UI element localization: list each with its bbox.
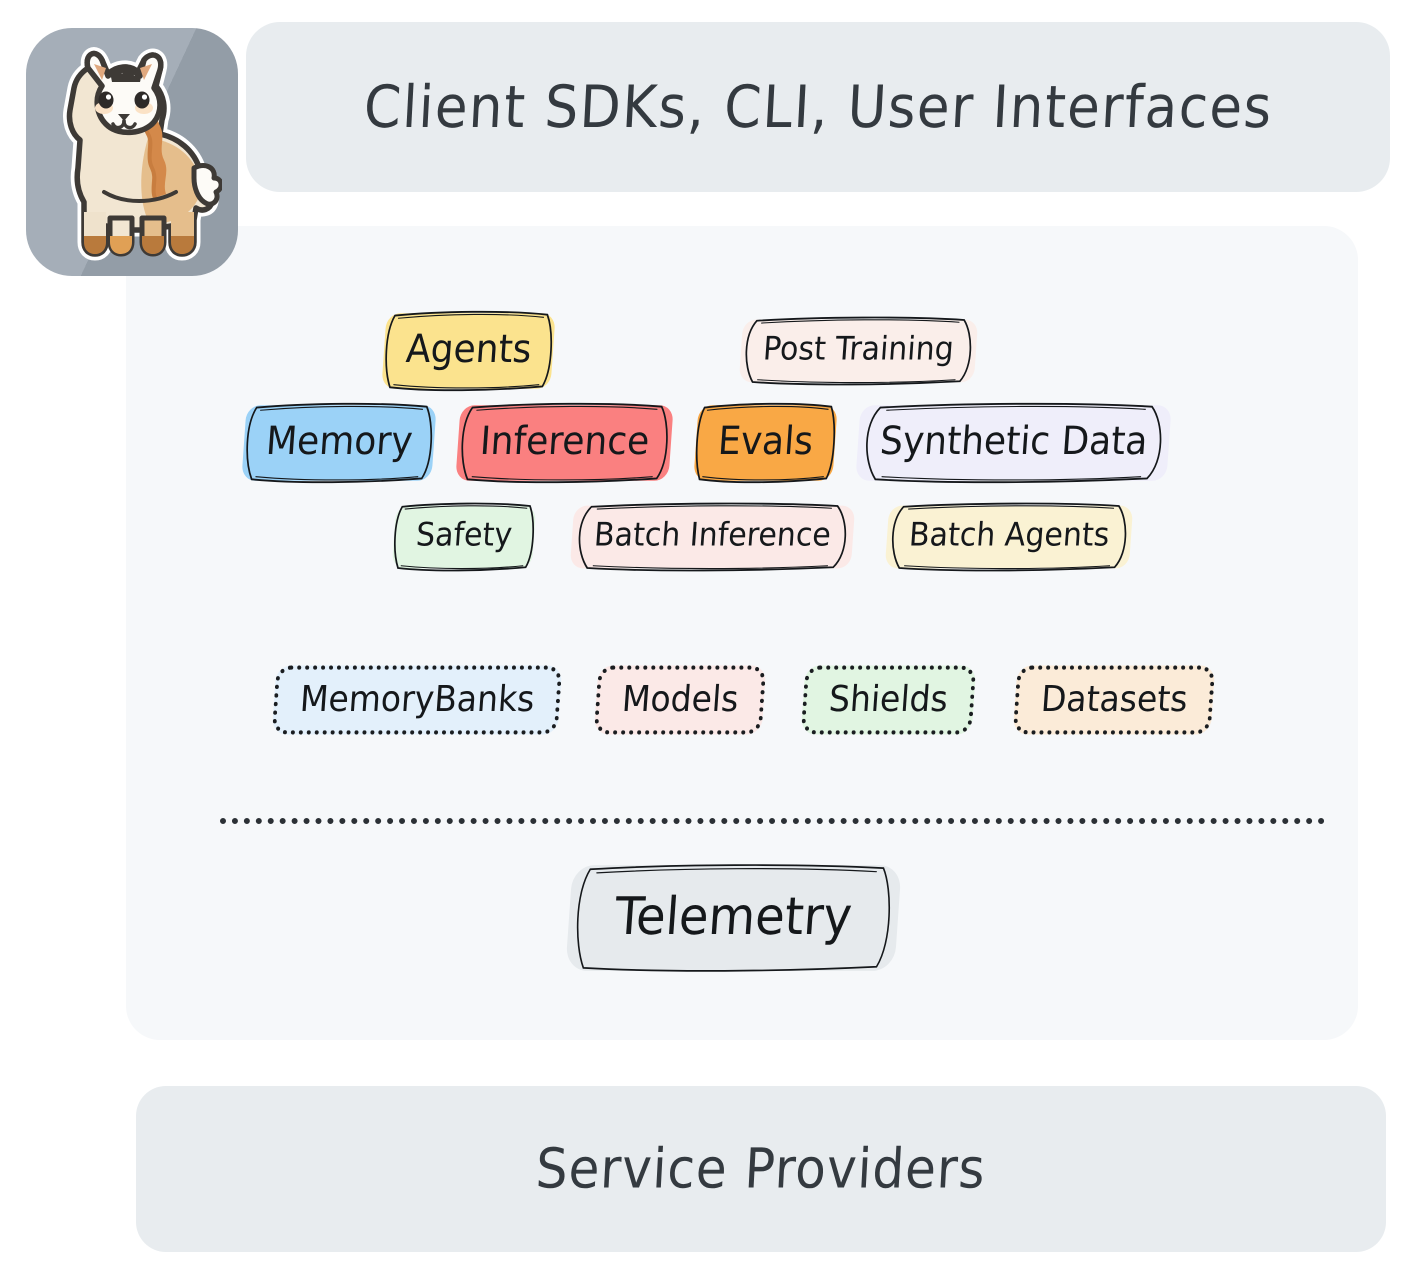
section-divider: [220, 818, 1325, 824]
service-providers-title: Service Providers: [535, 1137, 988, 1201]
api-node-label: Evals: [716, 422, 814, 464]
llama-stack-panel: AgentsPost Training MemoryInferenceEvals…: [126, 226, 1358, 1040]
telemetry-label: Telemetry: [613, 890, 854, 945]
api-node-label: Safety: [415, 519, 513, 555]
resource-node-memorybanks[interactable]: MemoryBanks: [272, 665, 563, 734]
service-providers-bar: Service Providers: [136, 1086, 1386, 1252]
api-node-label: Batch Inference: [593, 519, 832, 555]
api-node-agents[interactable]: Agents: [381, 313, 556, 389]
api-node-batch-inference[interactable]: Batch Inference: [570, 506, 855, 569]
resource-node-label: Models: [621, 681, 740, 720]
resource-row: MemoryBanksModelsShieldsDatasets: [274, 668, 1214, 732]
client-layer-title: Client SDKs, CLI, User Interfaces: [362, 73, 1274, 140]
resource-node-label: Shields: [827, 681, 948, 720]
api-row-1: AgentsPost Training: [384, 316, 976, 386]
api-row-3: SafetyBatch InferenceBatch Agents: [394, 508, 1131, 566]
llama-logo-tile: [26, 28, 238, 276]
api-node-post-training[interactable]: Post Training: [739, 320, 978, 383]
telemetry-node[interactable]: Telemetry: [565, 865, 901, 971]
resource-node-models[interactable]: Models: [594, 665, 767, 734]
api-node-safety[interactable]: Safety: [392, 506, 536, 569]
api-node-label: Inference: [479, 422, 651, 464]
api-row-2: MemoryInferenceEvalsSynthetic Data: [244, 408, 1170, 478]
api-node-inference[interactable]: Inference: [456, 405, 674, 481]
api-node-evals[interactable]: Evals: [693, 405, 837, 481]
api-node-label: Post Training: [762, 333, 955, 369]
api-node-label: Agents: [405, 330, 533, 372]
api-node-label: Synthetic Data: [879, 422, 1149, 464]
resource-node-shields[interactable]: Shields: [800, 665, 975, 734]
resource-node-datasets[interactable]: Datasets: [1013, 665, 1216, 734]
resource-node-label: Datasets: [1040, 681, 1189, 720]
api-node-label: Batch Agents: [907, 519, 1110, 555]
api-node-label: Memory: [265, 422, 414, 464]
api-node-batch-agents[interactable]: Batch Agents: [885, 506, 1134, 569]
llama-icon: [44, 42, 222, 264]
client-layer-bar: Client SDKs, CLI, User Interfaces: [246, 22, 1390, 192]
resource-node-label: MemoryBanks: [299, 681, 536, 720]
api-node-memory[interactable]: Memory: [241, 405, 437, 481]
telemetry-wrap: Telemetry: [569, 869, 898, 967]
api-node-synthetic-data[interactable]: Synthetic Data: [856, 405, 1173, 481]
